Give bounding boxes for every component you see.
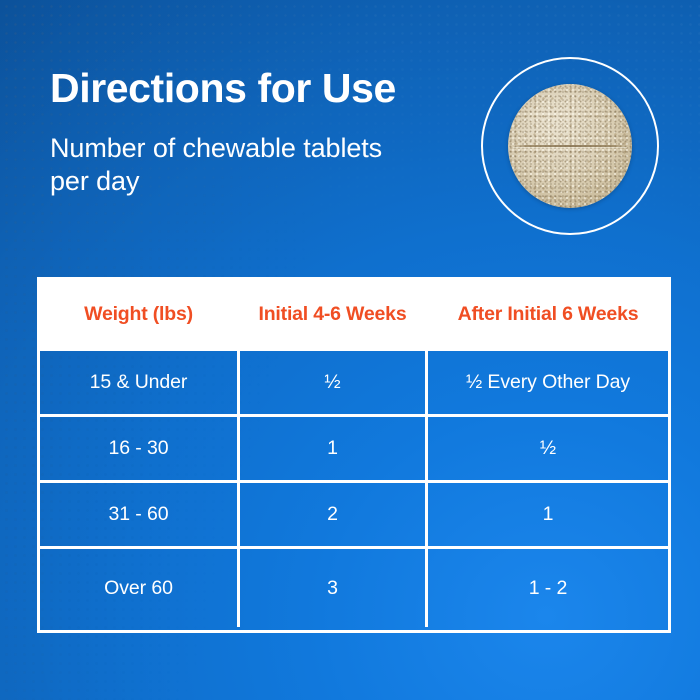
tablet-edge-shading (508, 84, 632, 208)
column-header-initial: Initial 4-6 Weeks (237, 280, 425, 348)
cell-after: ½ (425, 417, 668, 480)
table-row: Over 60 3 1 - 2 (40, 546, 668, 627)
cell-after: 1 (425, 483, 668, 546)
cell-weight: 16 - 30 (40, 417, 237, 480)
cell-initial: 1 (237, 417, 425, 480)
directions-for-use-panel: Directions for Use Number of chewable ta… (0, 0, 700, 700)
cell-after: 1 - 2 (425, 549, 668, 627)
table-row: 16 - 30 1 ½ (40, 414, 668, 480)
cell-initial: 2 (237, 483, 425, 546)
cell-weight: 15 & Under (40, 351, 237, 414)
cell-initial: ½ (237, 351, 425, 414)
cell-after: ½ Every Other Day (425, 351, 668, 414)
dosage-table: Weight (lbs) Initial 4-6 Weeks After Ini… (37, 277, 671, 633)
chewable-tablet-photo (508, 84, 632, 208)
cell-initial: 3 (237, 549, 425, 627)
column-header-weight: Weight (lbs) (40, 280, 237, 348)
table-row: 31 - 60 2 1 (40, 480, 668, 546)
table-row: 15 & Under ½ ½ Every Other Day (40, 348, 668, 414)
page-subtitle: Number of chewable tablets per day (50, 132, 390, 198)
page-title: Directions for Use (50, 68, 396, 109)
cell-weight: Over 60 (40, 549, 237, 627)
cell-weight: 31 - 60 (40, 483, 237, 546)
table-header-row: Weight (lbs) Initial 4-6 Weeks After Ini… (40, 280, 668, 348)
column-header-after: After Initial 6 Weeks (425, 280, 668, 348)
